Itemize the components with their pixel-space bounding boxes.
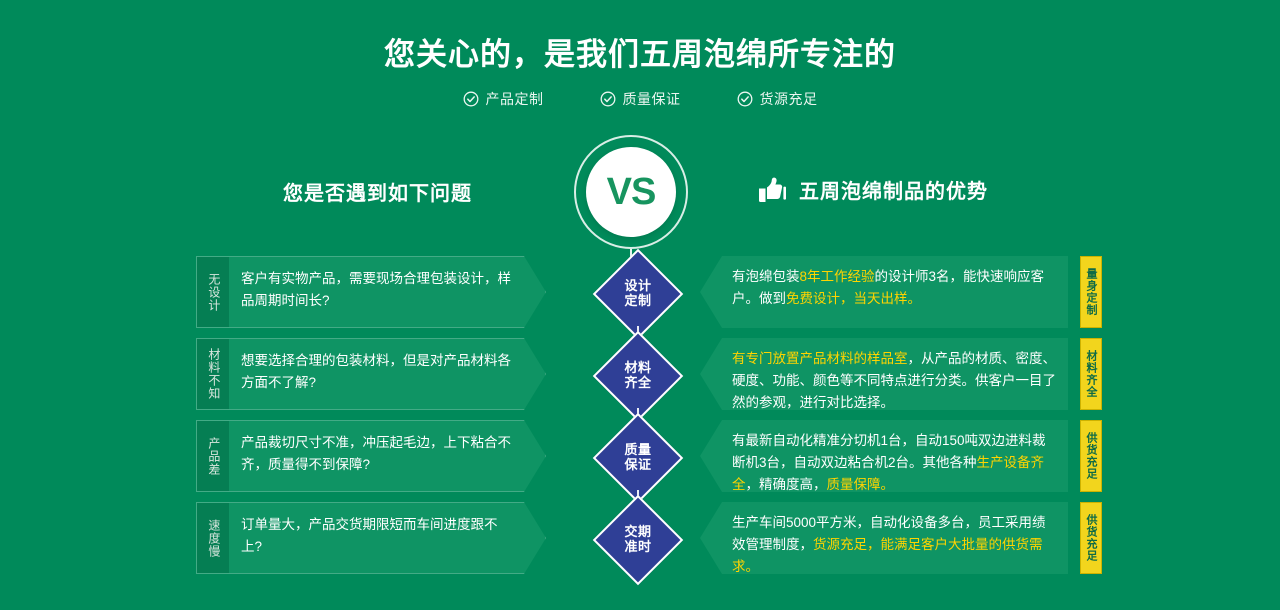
- problem-card[interactable]: 材料不知想要选择合理的包装材料，但是对产品材料各方面不了解?: [196, 338, 546, 410]
- page-title: 您关心的，是我们五周泡绵所专注的: [0, 0, 1280, 75]
- advantage-tab-label: 供货充足: [1085, 514, 1097, 562]
- problem-tab: 速度慢: [197, 503, 229, 573]
- diamond-label: 质量保证: [592, 426, 684, 490]
- problem-card[interactable]: 产品差产品裁切尺寸不准，冲压起毛边，上下粘合不齐，质量得不到保障?: [196, 420, 546, 492]
- problem-card[interactable]: 无设计客户有实物产品，需要现场合理包装设计，样品周期时间长?: [196, 256, 546, 328]
- feature-label: 货源充足: [760, 89, 818, 109]
- highlighted-text: 8年工作经验: [800, 269, 875, 284]
- problem-tab-label: 无设计: [206, 273, 220, 312]
- check-circle-icon: [737, 91, 753, 107]
- thumbs-up-icon: [757, 177, 787, 203]
- feature-list: 产品定制质量保证货源充足: [0, 89, 1280, 109]
- advantage-tab-label: 量身定制: [1085, 268, 1097, 316]
- advantage-tab: 供货充足: [1080, 502, 1102, 574]
- problem-text: 产品裁切尺寸不准，冲压起毛边，上下粘合不齐，质量得不到保障?: [229, 421, 545, 491]
- feature-item: 货源充足: [737, 89, 818, 109]
- problem-text: 订单量大，产品交货期限短而车间进度跟不上?: [229, 503, 545, 573]
- problem-text: 想要选择合理的包装材料，但是对产品材料各方面不了解?: [229, 339, 545, 409]
- diamond-label-line2: 保证: [624, 458, 651, 473]
- body-text: 有泡绵包装: [732, 269, 800, 284]
- vs-circle: VS: [586, 147, 676, 237]
- highlighted-text: 有专门放置产品材料的样品室: [732, 351, 908, 366]
- vs-label: VS: [607, 173, 656, 211]
- problem-text: 客户有实物产品，需要现场合理包装设计，样品周期时间长?: [229, 257, 545, 327]
- vs-badge: VS: [574, 135, 692, 255]
- advantage-card[interactable]: 生产车间5000平方米，自动化设备多台，员工采用绩效管理制度，货源充足，能满足客…: [700, 502, 1068, 574]
- diamond-label-line1: 质量: [624, 443, 651, 458]
- advantage-tab: 量身定制: [1080, 256, 1102, 328]
- problem-tab-label: 速度慢: [206, 519, 220, 558]
- diamond-label-line1: 材料: [624, 361, 651, 376]
- diamond-column: 设计定制材料齐全质量保证交期准时: [592, 256, 688, 586]
- advantage-tab-label: 供货充足: [1085, 432, 1097, 480]
- problem-tab: 产品差: [197, 421, 229, 491]
- stage-diamond: 交期准时: [592, 518, 684, 610]
- diamond-label-line2: 齐全: [624, 376, 651, 391]
- feature-label: 产品定制: [486, 89, 544, 109]
- advantage-card[interactable]: 有专门放置产品材料的样品室，从产品的材质、密度、硬度、功能、颜色等不同特点进行分…: [700, 338, 1068, 410]
- feature-item: 产品定制: [463, 89, 544, 109]
- comparison-infographic: 您关心的，是我们五周泡绵所专注的 产品定制质量保证货源充足 VS 您是否遇到如下…: [0, 0, 1280, 598]
- problem-tab-label: 材料不知: [206, 348, 220, 400]
- problem-tab: 材料不知: [197, 339, 229, 409]
- diamond-label-line1: 设计: [624, 279, 651, 294]
- advantage-card[interactable]: 有泡绵包装8年工作经验的设计师3名，能快速响应客户。做到免费设计，当天出样。: [700, 256, 1068, 328]
- right-column-heading-label: 五周泡绵制品的优势: [799, 175, 988, 204]
- diamond-label-line2: 准时: [624, 540, 651, 555]
- body-text: ，精确度高，: [746, 477, 827, 492]
- diamond-label-line1: 交期: [624, 525, 651, 540]
- check-circle-icon: [463, 91, 479, 107]
- advantage-tab-label: 材料齐全: [1085, 350, 1097, 398]
- problem-tab-label: 产品差: [206, 437, 220, 476]
- highlighted-text: 免费设计，当天出样。: [786, 291, 921, 306]
- advantage-tab: 供货充足: [1080, 420, 1102, 492]
- right-column-heading: 五周泡绵制品的优势: [757, 175, 988, 204]
- left-column-heading: 您是否遇到如下问题: [283, 177, 472, 206]
- header: 您关心的，是我们五周泡绵所专注的 产品定制质量保证货源充足: [0, 0, 1280, 109]
- advantage-tab: 材料齐全: [1080, 338, 1102, 410]
- problem-tab: 无设计: [197, 257, 229, 327]
- highlighted-text: 质量保障。: [827, 477, 895, 492]
- advantage-card[interactable]: 有最新自动化精准分切机1台，自动150吨双边进料裁断机3台，自动双边粘合机2台。…: [700, 420, 1068, 492]
- feature-item: 质量保证: [600, 89, 681, 109]
- check-circle-icon: [600, 91, 616, 107]
- problem-card[interactable]: 速度慢订单量大，产品交货期限短而车间进度跟不上?: [196, 502, 546, 574]
- diamond-label-line2: 定制: [624, 294, 651, 309]
- diamond-label: 材料齐全: [592, 344, 684, 408]
- diamond-label: 设计定制: [592, 262, 684, 326]
- diamond-label: 交期准时: [592, 508, 684, 572]
- feature-label: 质量保证: [623, 89, 681, 109]
